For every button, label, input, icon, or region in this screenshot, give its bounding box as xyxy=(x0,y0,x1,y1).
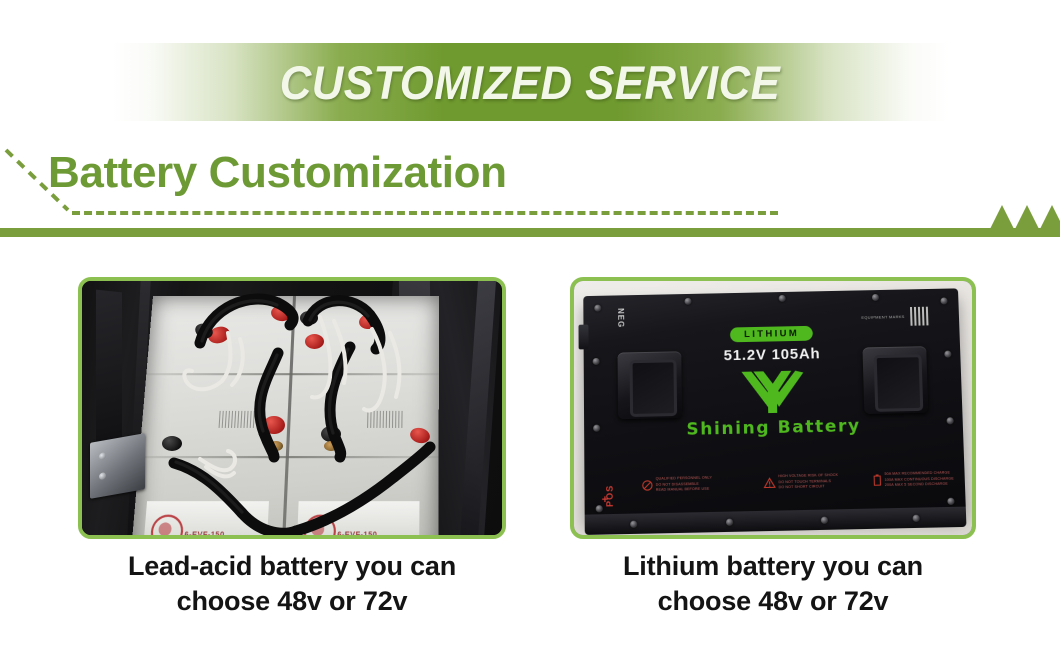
caption-line-2: choose 48v or 72v xyxy=(566,584,980,619)
cable-tie xyxy=(82,281,502,535)
warning-text-1: QUALIFIED PERSONNEL ONLYDO NOT DISASSEMB… xyxy=(655,476,712,493)
negative-terminal-label: NEG xyxy=(616,309,625,329)
brand-name: Shining Battery xyxy=(686,417,861,441)
caption-line-1: Lithium battery you can xyxy=(566,549,980,584)
equipment-marks-label: EQUIPMENT MARKS xyxy=(861,314,904,320)
card-caption-lead-acid: Lead-acid battery you can choose 48v or … xyxy=(74,549,510,619)
warning-label-1: QUALIFIED PERSONNEL ONLYDO NOT DISASSEMB… xyxy=(641,476,712,493)
battery-icon xyxy=(873,474,881,486)
caption-line-1: Lead-acid battery you can xyxy=(74,549,510,584)
card-lead-acid[interactable]: 6-EVF-150 12V 150AH 6-EVF-150 12V 150AH xyxy=(78,277,506,539)
side-tab xyxy=(579,325,589,349)
lithium-badge: LITHIUM xyxy=(730,326,813,343)
warning-text-3: 50A MAX RECOMMENDED CHARGE100A MAX CONTI… xyxy=(884,471,954,488)
positive-terminal-label: POS xyxy=(605,485,615,507)
photo-lithium-battery: NEG + POS EQUIPMENT MARKS LITHIUM 51.2V … xyxy=(574,281,972,535)
warning-label-2: HIGH VOLTAGE RISK OF SHOCKDO NOT TOUCH T… xyxy=(763,473,838,490)
card-lithium[interactable]: NEG + POS EQUIPMENT MARKS LITHIUM 51.2V … xyxy=(570,277,976,539)
photo-frame-lead-acid: 6-EVF-150 12V 150AH 6-EVF-150 12V 150AH xyxy=(78,277,506,539)
cabinet-hinge xyxy=(90,434,145,500)
no-disassemble-icon xyxy=(641,480,652,491)
battery-spec-label: 51.2V 105Ah xyxy=(723,345,820,364)
product-cards: 6-EVF-150 12V 150AH 6-EVF-150 12V 150AH xyxy=(0,0,1060,665)
card-caption-lithium: Lithium battery you can choose 48v or 72… xyxy=(566,549,980,619)
customized-service-page: CUSTOMIZED SERVICE Battery Customization xyxy=(0,0,1060,665)
caption-line-2: choose 48v or 72v xyxy=(74,584,510,619)
carry-handle-right xyxy=(862,346,928,414)
high-voltage-icon xyxy=(763,477,775,488)
carry-handle-left xyxy=(617,352,682,420)
warning-text-2: HIGH VOLTAGE RISK OF SHOCKDO NOT TOUCH T… xyxy=(778,473,838,490)
qr-code xyxy=(910,307,929,326)
photo-lead-acid-battery: 6-EVF-150 12V 150AH 6-EVF-150 12V 150AH xyxy=(82,281,502,535)
photo-frame-lithium: NEG + POS EQUIPMENT MARKS LITHIUM 51.2V … xyxy=(570,277,976,539)
shining-battery-logo-icon xyxy=(739,369,806,416)
warning-label-3: 50A MAX RECOMMENDED CHARGE100A MAX CONTI… xyxy=(873,471,954,488)
lithium-battery-pack: NEG + POS EQUIPMENT MARKS LITHIUM 51.2V … xyxy=(583,289,966,520)
